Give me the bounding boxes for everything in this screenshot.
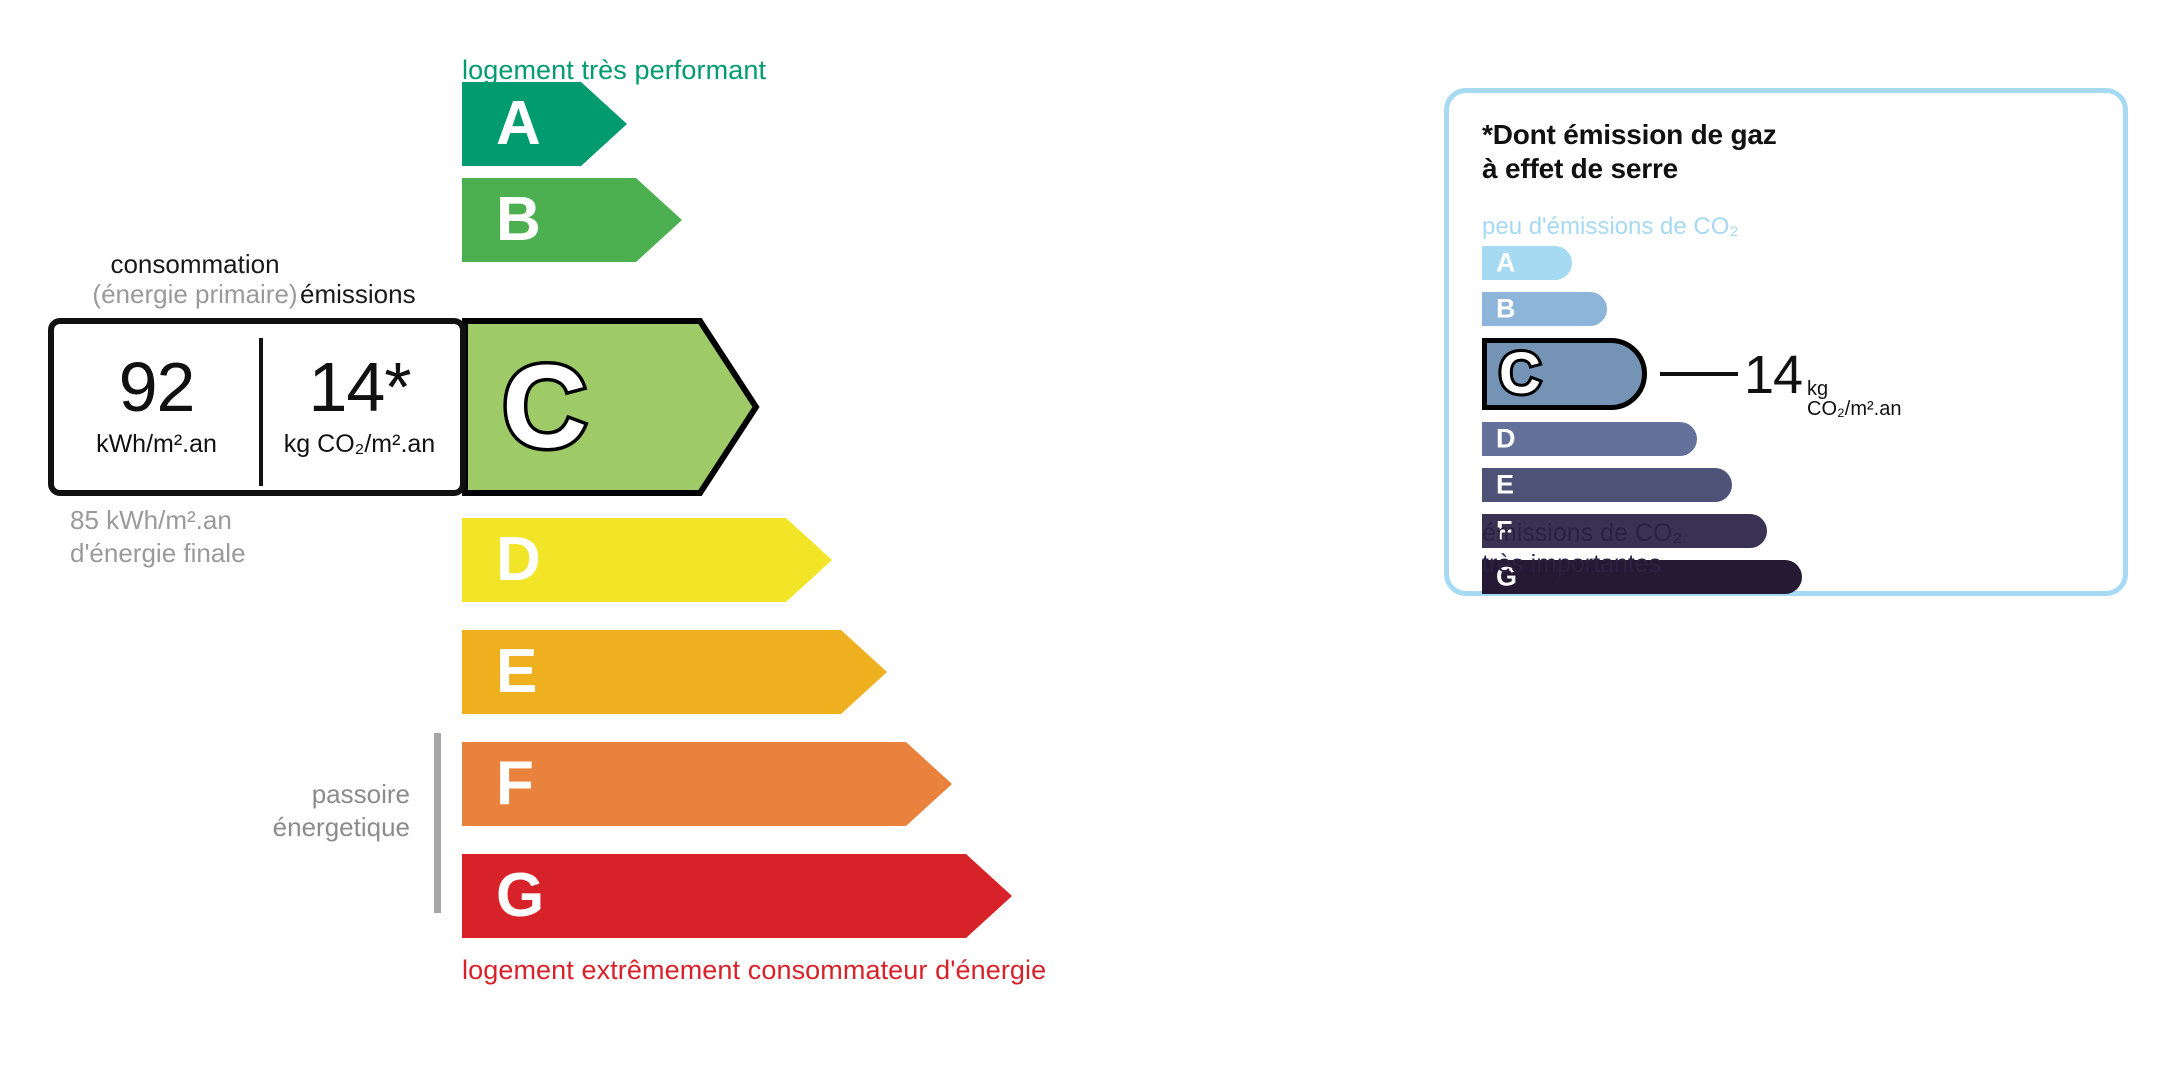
energy-band-g: G	[462, 854, 1012, 938]
co2-value-unit: kg CO₂/m².an	[1807, 379, 1901, 419]
energy-band-shape	[462, 854, 1012, 938]
energy-band-letter: B	[496, 189, 541, 251]
co2-connector-line	[1660, 372, 1738, 376]
final-energy-line2: d'énergie finale	[70, 537, 246, 570]
co2-title-line2: à effet de serre	[1482, 152, 1777, 186]
passoire-bracket	[434, 733, 441, 913]
label-consommation: consommation	[70, 249, 320, 279]
primary-energy-value: 92	[119, 355, 195, 419]
final-energy-note: 85 kWh/m².an d'énergie finale	[70, 504, 246, 570]
co2-panel: *Dont émission de gaz à effet de serre p…	[1444, 88, 2128, 596]
passoire-line1: passoire	[230, 778, 410, 811]
co2-bar-b: B	[1482, 292, 1607, 326]
label-passoire-energetique: passoire énergetique	[230, 778, 410, 844]
co2-bottom-line2: très importantes	[1482, 549, 1682, 580]
co2-top-caption: peu d'émissions de CO₂	[1482, 213, 1739, 241]
co2-bar-c: C	[1482, 338, 1647, 410]
energy-band-a: A	[462, 82, 627, 166]
co2-panel-title: *Dont émission de gaz à effet de serre	[1482, 118, 1777, 186]
energy-bottom-caption: logement extrêmement consommateur d'éner…	[462, 955, 1046, 986]
energy-band-letter: A	[496, 93, 541, 155]
passoire-line2: énergetique	[230, 811, 410, 844]
co2-value: 14	[1744, 348, 1802, 402]
energy-band-letter: D	[496, 529, 541, 591]
energy-band-letter: F	[496, 753, 534, 815]
energy-band-letter: E	[496, 641, 537, 703]
emissions-unit: kg CO₂/m².an	[284, 430, 435, 459]
co2-bar-letter: B	[1496, 296, 1516, 323]
emissions-cell: 14* kg CO₂/m².an	[259, 324, 460, 490]
co2-bottom-caption: émissions de CO₂ très importantes	[1482, 518, 1682, 579]
energy-band-shape	[462, 742, 952, 826]
co2-bar-e: E	[1482, 468, 1732, 502]
co2-bar-letter: E	[1496, 472, 1514, 499]
energy-band-d: D	[462, 518, 832, 602]
emissions-value: 14*	[308, 355, 410, 419]
energy-band-f: F	[462, 742, 952, 826]
label-emissions: émissions	[300, 279, 416, 310]
co2-bar-letter: C	[1499, 345, 1541, 403]
energy-band-c: C	[462, 318, 760, 496]
energy-band-letter: C	[502, 348, 587, 466]
co2-bar-letter: D	[1496, 426, 1516, 453]
energy-band-letter: G	[496, 865, 544, 927]
primary-energy-unit: kWh/m².an	[96, 430, 217, 459]
energy-band-shape	[462, 178, 682, 262]
co2-title-line1: *Dont émission de gaz	[1482, 118, 1777, 152]
co2-bar-letter: A	[1496, 250, 1516, 277]
energy-band-shape	[462, 82, 627, 166]
co2-bar-a: A	[1482, 246, 1572, 280]
energy-band-e: E	[462, 630, 887, 714]
co2-bar-d: D	[1482, 422, 1697, 456]
final-energy-line1: 85 kWh/m².an	[70, 504, 246, 537]
co2-bottom-line1: émissions de CO₂	[1482, 518, 1682, 549]
energy-band-b: B	[462, 178, 682, 262]
primary-energy-cell: 92 kWh/m².an	[54, 324, 259, 490]
value-box: 92 kWh/m².an 14* kg CO₂/m².an	[48, 318, 466, 496]
